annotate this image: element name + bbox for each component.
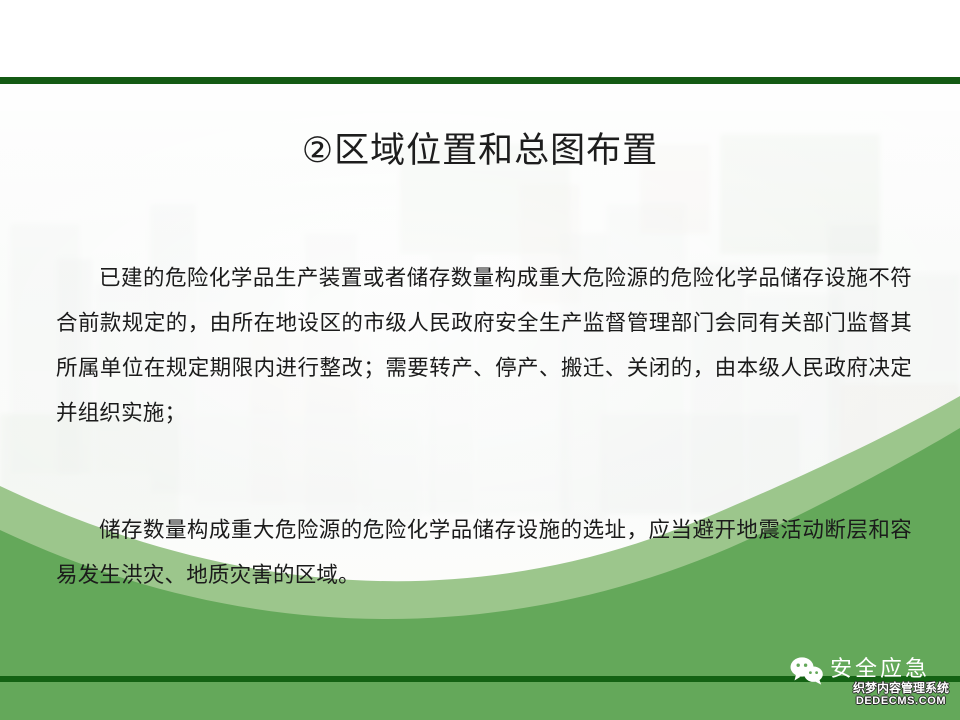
body-paragraph-1: 已建的危险化学品生产装置或者储存数量构成重大危险源的危险化学品储存设施不符合前款… (56, 256, 912, 436)
watermark-english: DEDECMS.COM (845, 696, 957, 708)
slide-canvas: ②区域位置和总图布置 已建的危险化学品生产装置或者储存数量构成重大危险源的危险化… (0, 0, 960, 720)
watermark-chinese: 织梦内容管理系统 (845, 682, 957, 695)
logo-label: 安全应急 (830, 654, 930, 684)
page-title: ②区域位置和总图布置 (0, 128, 960, 174)
dedecms-watermark: 织梦内容管理系统 DEDECMS.COM (845, 682, 957, 707)
wechat-icon (790, 656, 824, 686)
top-divider-rule (0, 77, 960, 84)
body-paragraph-2: 储存数量构成重大危险源的危险化学品储存设施的选址，应当避开地震活动断层和容易发生… (56, 508, 912, 598)
